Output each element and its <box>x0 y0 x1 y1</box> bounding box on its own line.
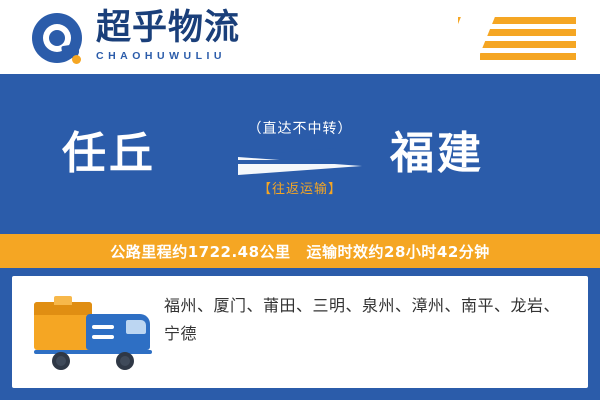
info-bar: 公路里程约1722.48公里 运输时效约28小时42分钟 <box>0 234 600 268</box>
covered-cities-list: 福州、厦门、莆田、三明、泉州、漳州、南平、龙岩、宁德 <box>164 292 568 348</box>
duration-text: 运输时效约28小时42分钟 <box>307 241 490 262</box>
round-trip-note: 【往返运输】 <box>220 178 380 197</box>
logistics-route-poster: 超乎物流 CHAOHUWULIU 任丘 （直达不中转） 【往返运输】 福建 公路… <box>0 0 600 400</box>
circle-q-logo-icon <box>32 13 82 63</box>
destination-city: 福建 <box>390 128 484 180</box>
brand-text: 超乎物流 CHAOHUWULIU <box>96 8 240 62</box>
двусторонняя-arrow-icon <box>220 144 380 174</box>
delivery-truck-icon <box>34 294 156 372</box>
direct-service-note: （直达不中转） <box>220 118 380 138</box>
coverage-panel: 福州、厦门、莆田、三明、泉州、漳州、南平、龙岩、宁德 <box>12 276 588 388</box>
route-middle: （直达不中转） 【往返运输】 <box>220 118 380 197</box>
brand-name-cn: 超乎物流 <box>96 8 240 48</box>
route-section: 任丘 （直达不中转） 【往返运输】 福建 <box>0 74 600 234</box>
orange-speed-stripes-icon <box>456 17 576 59</box>
origin-city: 任丘 <box>62 128 156 180</box>
distance-text: 公路里程约1722.48公里 <box>110 241 290 262</box>
header: 超乎物流 CHAOHUWULIU <box>0 0 600 74</box>
brand-name-en: CHAOHUWULIU <box>96 50 240 62</box>
